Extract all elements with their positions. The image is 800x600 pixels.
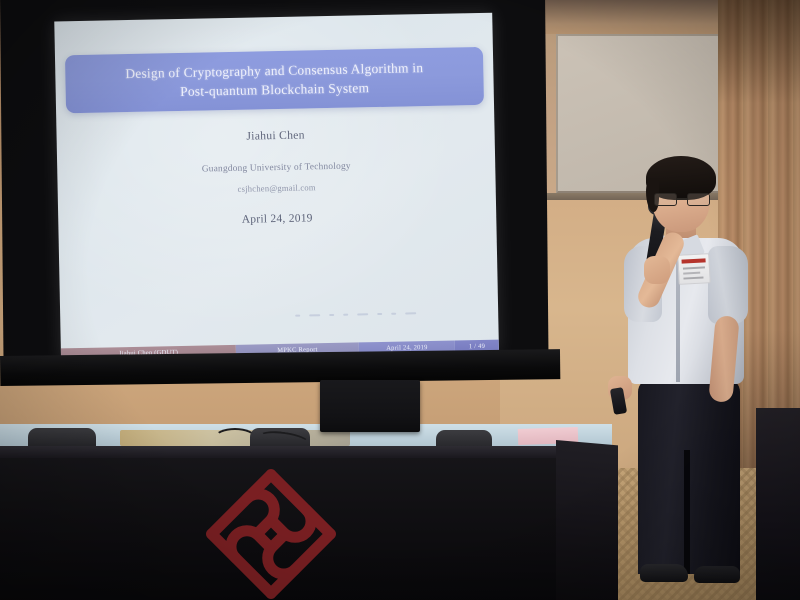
slide-title: Design of Cryptography and Consensus Alg… xyxy=(117,57,432,102)
slide-author: Jiahui Chen xyxy=(57,125,495,147)
eyeglass-lens-right xyxy=(687,193,710,206)
presenter-hand-left xyxy=(644,256,670,284)
presenter-shoe-right xyxy=(694,566,740,583)
slide-title-box: Design of Cryptography and Consensus Alg… xyxy=(65,47,484,113)
eyeglasses xyxy=(654,193,710,206)
badge-line-2 xyxy=(683,272,700,275)
cable-loop-1 xyxy=(214,428,256,448)
presenter-shoe-left xyxy=(640,564,688,582)
slide-date: April 24, 2019 xyxy=(58,209,496,230)
slide-title-line-1: Design of Cryptography and Consensus Alg… xyxy=(125,60,423,81)
badge-header-bar xyxy=(681,258,705,263)
presentation-slide[interactable]: Design of Cryptography and Consensus Alg… xyxy=(54,13,499,362)
presentation-scene: Design of Cryptography and Consensus Alg… xyxy=(0,0,800,600)
endless-knot-logo xyxy=(196,468,346,600)
badge-line-1 xyxy=(683,266,705,269)
slide-title-line-2: Post-quantum Blockchain System xyxy=(180,80,369,99)
podium-top-edge xyxy=(0,446,614,458)
slide-affiliation: Guangdong University of Technology xyxy=(57,159,495,178)
slide-email: csjhchen@gmail.com xyxy=(58,179,496,198)
eyeglass-lens-left xyxy=(654,193,677,206)
name-badge xyxy=(677,253,711,285)
shirt-sleeve-right xyxy=(708,246,748,324)
slide-navigation-dots[interactable] xyxy=(295,308,445,320)
badge-line-3 xyxy=(683,277,703,280)
projection-screen-frame: Design of Cryptography and Consensus Alg… xyxy=(0,0,549,379)
presenter xyxy=(600,150,800,600)
presenter-leg-gap xyxy=(684,450,690,574)
desk-monitor xyxy=(320,380,420,432)
eyeglass-bridge xyxy=(677,198,687,200)
